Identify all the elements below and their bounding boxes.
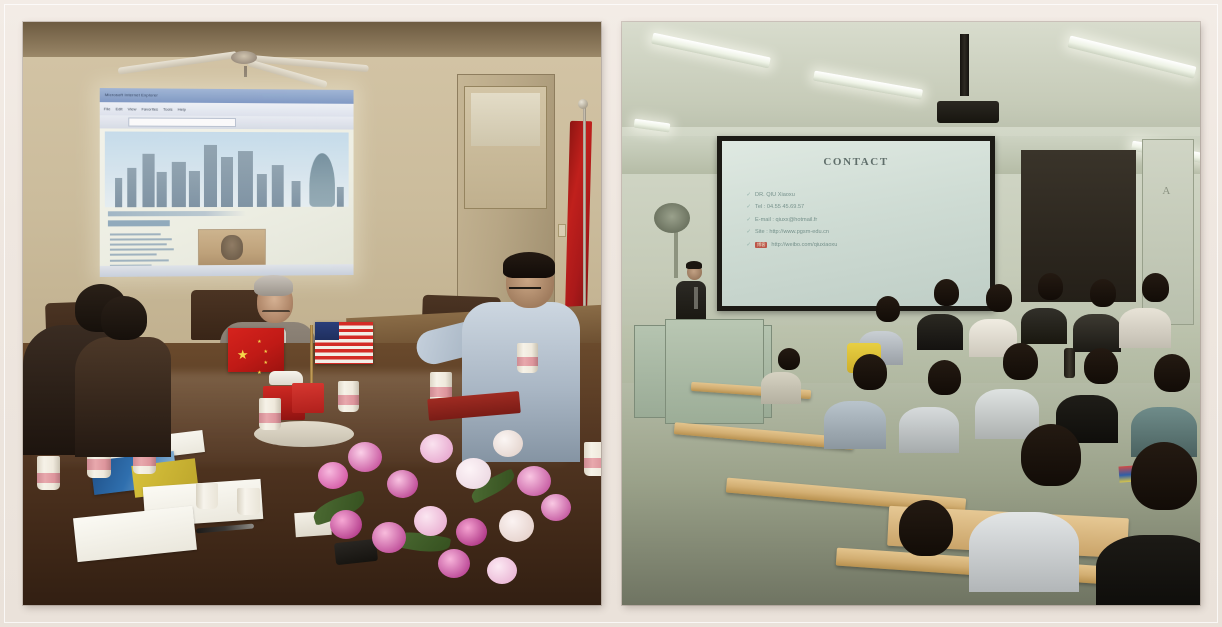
portrait-face xyxy=(221,235,242,259)
page-inline-photo xyxy=(198,229,267,270)
page-heading-block xyxy=(108,220,170,227)
student-head xyxy=(1003,343,1038,380)
podium-front xyxy=(665,319,763,424)
photo-mount-frame: Microsoft Internet Explorer File Edit Vi… xyxy=(0,0,1222,627)
student-head xyxy=(986,284,1012,312)
student-head xyxy=(1131,442,1197,510)
paper-cup xyxy=(259,398,281,430)
water-bottle xyxy=(1064,348,1075,378)
wall-mounted-fan xyxy=(654,203,690,233)
menu-view: View xyxy=(128,106,137,111)
student-head xyxy=(1090,279,1116,307)
slide-line-text: E-mail : qiuxx@hotmail.fr xyxy=(755,217,817,223)
page-text-line xyxy=(108,211,246,216)
student-head xyxy=(1142,273,1169,302)
foreground-attendee-head xyxy=(101,296,147,340)
checkmark-icon: ✓ xyxy=(746,229,751,235)
paper-cup xyxy=(196,483,218,509)
speaker-hair xyxy=(254,275,293,296)
flag-finial xyxy=(578,99,588,109)
slide-line-text: Site : http://www.pgsm-edu.cn xyxy=(755,229,829,235)
projected-browser-window: Microsoft Internet Explorer File Edit Vi… xyxy=(100,88,354,277)
slide-line: ✓ DR. QIU Xiaoxu xyxy=(746,192,976,198)
ceiling-projector xyxy=(937,101,999,123)
lecturer-tie xyxy=(694,287,698,309)
china-flag-star: ★ xyxy=(257,340,261,345)
student-head xyxy=(1084,348,1118,384)
wall-fan-stem xyxy=(674,232,678,278)
student-head xyxy=(1038,273,1063,300)
meeting-room-scene: Microsoft Internet Explorer File Edit Vi… xyxy=(23,22,601,605)
student-body xyxy=(899,407,959,453)
student-head xyxy=(1154,354,1190,392)
student-body xyxy=(1119,308,1171,348)
paper-cup xyxy=(517,343,538,373)
slide-line: ✓ Tel : 04.55 45.69.57 xyxy=(746,204,976,210)
menu-file: File xyxy=(104,106,111,111)
wall-letter-sign: A xyxy=(1162,185,1176,201)
slide-line-text: Tel : 04.55 45.69.57 xyxy=(755,204,804,210)
student-body xyxy=(824,401,886,449)
ceiling xyxy=(622,22,1200,139)
lecturer-hair xyxy=(686,261,702,269)
menu-favorites: Favorites xyxy=(141,106,158,111)
slide-title: CONTACT xyxy=(722,156,989,168)
menu-tools: Tools xyxy=(163,107,172,112)
student-head xyxy=(853,354,887,390)
student-body xyxy=(1073,314,1121,352)
skyline-banner-image xyxy=(105,131,349,206)
china-flag-star: ★ xyxy=(263,361,267,366)
gherkin-tower xyxy=(309,153,335,206)
student-body xyxy=(1021,308,1067,344)
checkmark-icon: ✓ xyxy=(746,204,751,210)
browser-statusbar xyxy=(100,264,354,276)
projector-mount xyxy=(960,34,969,96)
slide-line-text: http://weibo.com/qiuxiaoxu xyxy=(771,242,837,248)
student-body xyxy=(917,314,963,350)
wall-outlet xyxy=(558,224,566,237)
checkmark-icon: ✓ xyxy=(746,192,751,198)
photo-classroom: A CONTACT ✓ DR. QIU Xiaoxu ✓ Tel : 04.55… xyxy=(622,22,1200,605)
browser-title-text: Microsoft Internet Explorer xyxy=(105,88,158,102)
slide-line: ✓ Site : http://www.pgsm-edu.cn xyxy=(746,229,976,235)
paper-cup xyxy=(37,456,60,490)
photo-meeting-room: Microsoft Internet Explorer File Edit Vi… xyxy=(23,22,601,605)
student-head xyxy=(1021,424,1081,486)
checkmark-icon: ✓ xyxy=(746,242,751,248)
weibo-badge-icon: 博客 xyxy=(755,242,767,248)
slide-line: ✓ 博客 http://weibo.com/qiuxiaoxu xyxy=(746,242,976,248)
page-bullet-list xyxy=(110,233,177,270)
student-head xyxy=(928,360,961,395)
paper-cup xyxy=(338,381,359,412)
classroom-scene: A CONTACT ✓ DR. QIU Xiaoxu ✓ Tel : 04.55… xyxy=(622,22,1200,605)
menu-edit: Edit xyxy=(116,106,123,111)
student-head xyxy=(778,348,800,370)
slide-line: ✓ E-mail : qiuxx@hotmail.fr xyxy=(746,217,976,223)
back-wall-board xyxy=(1021,150,1137,302)
paper-cup xyxy=(237,488,260,515)
china-flag-star: ★ xyxy=(237,348,249,361)
door-glass xyxy=(471,93,540,145)
china-flag-star: ★ xyxy=(263,350,267,355)
menu-help: Help xyxy=(178,107,186,112)
attendee-glasses xyxy=(509,287,541,292)
student-body xyxy=(761,372,801,404)
student-head xyxy=(934,279,959,306)
red-gift-box xyxy=(292,383,324,413)
orchid-bouquet xyxy=(306,418,601,605)
slide-bullet-list: ✓ DR. QIU Xiaoxu ✓ Tel : 04.55 45.69.57 … xyxy=(746,192,976,255)
student-head xyxy=(899,500,953,556)
china-flag-star: ★ xyxy=(257,371,261,376)
browser-address-bar xyxy=(128,118,236,127)
checkmark-icon: ✓ xyxy=(746,217,751,223)
ceiling-fan-rod xyxy=(244,66,247,77)
student-body xyxy=(969,512,1079,592)
usa-flag-canton xyxy=(315,322,339,340)
speaker-glasses xyxy=(262,310,290,316)
browser-menu-items: File Edit View Favorites Tools Help xyxy=(104,102,186,116)
student-body xyxy=(1096,535,1200,605)
student-body xyxy=(975,389,1039,439)
foreground-attendee-body xyxy=(75,337,171,457)
student-head xyxy=(876,296,900,322)
attendee-hair xyxy=(503,252,555,278)
slide-line-text: DR. QIU Xiaoxu xyxy=(755,192,795,198)
